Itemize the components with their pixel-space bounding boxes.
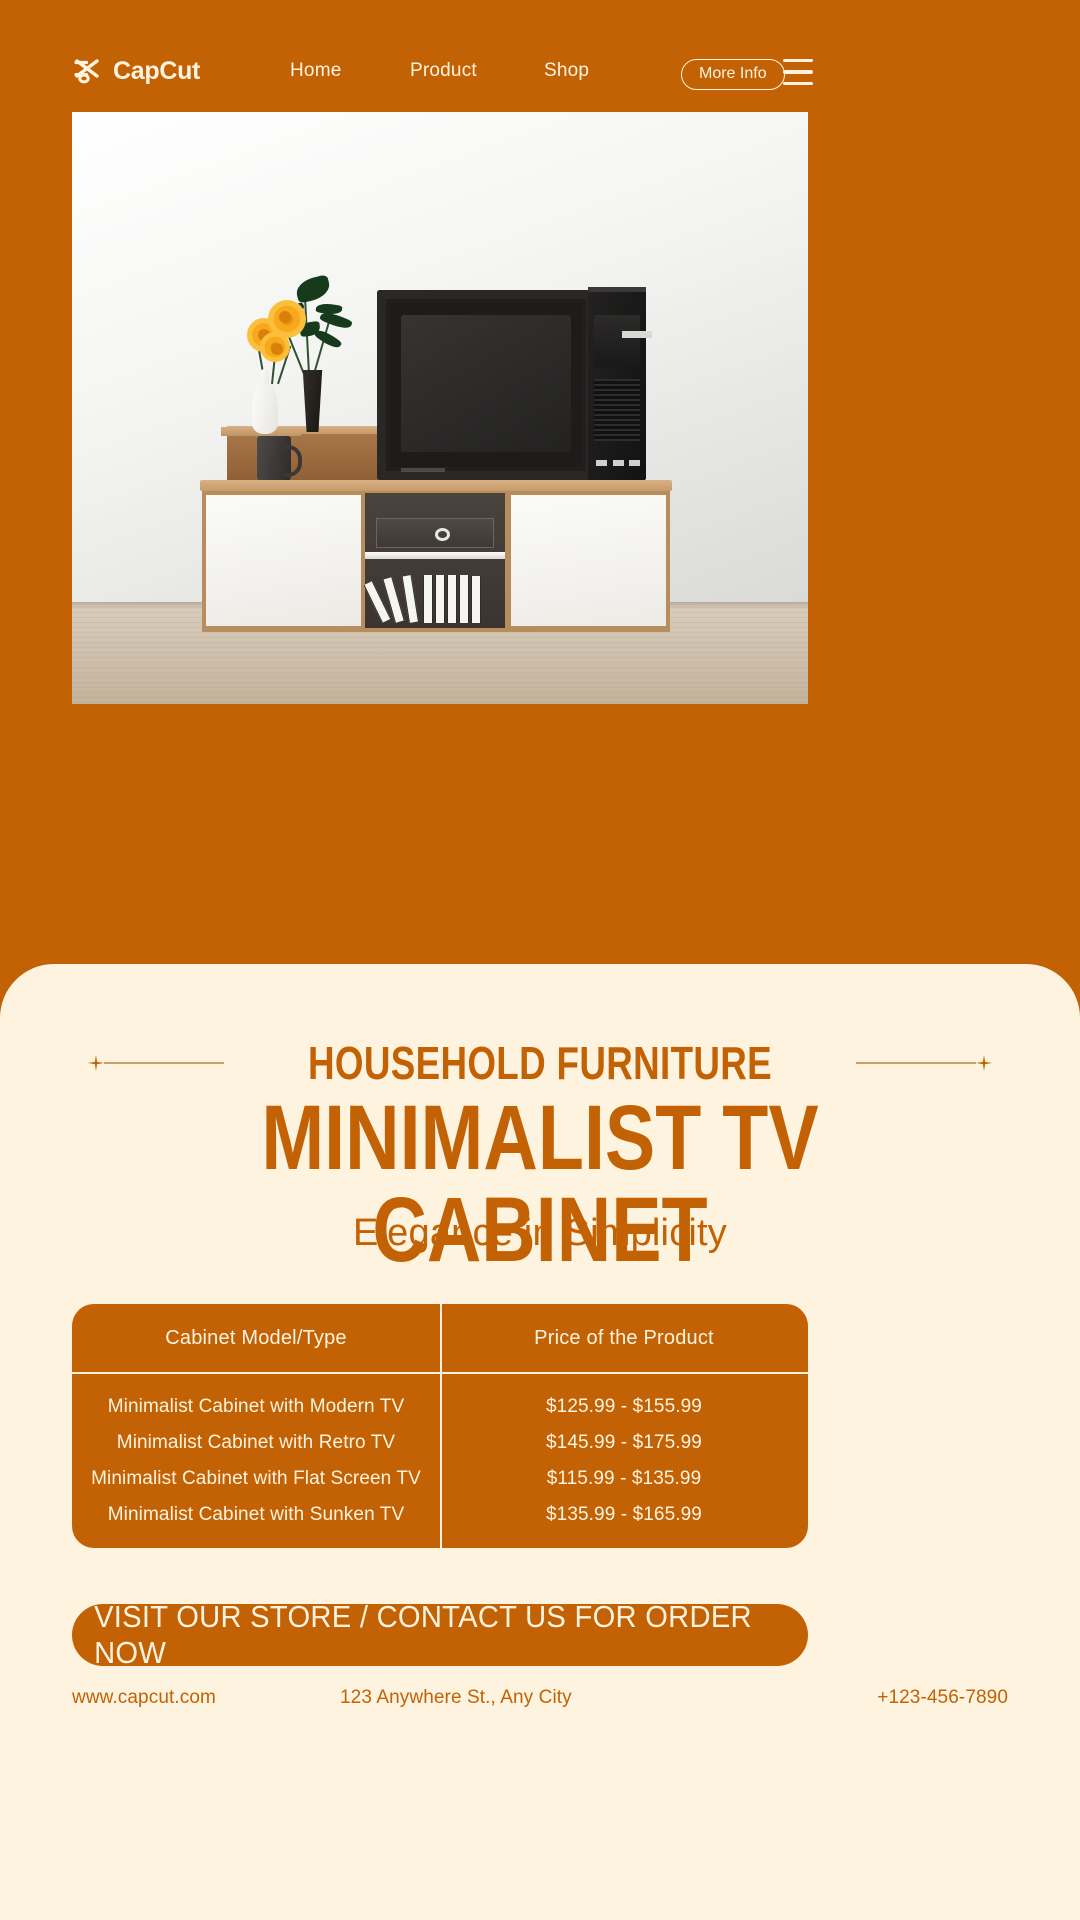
hero-scene — [72, 112, 808, 704]
retro-television — [377, 290, 595, 480]
brand-logo-text: CapCut — [113, 59, 200, 84]
table-row: $115.99 - $135.99 — [440, 1461, 808, 1497]
tv-cabinet — [200, 480, 672, 632]
table-column-prices: $125.99 - $155.99 $145.99 - $175.99 $115… — [440, 1374, 808, 1548]
book-row — [378, 563, 498, 623]
four-point-star-icon — [88, 1055, 104, 1071]
table-row: $145.99 - $175.99 — [440, 1425, 808, 1461]
four-point-star-icon — [976, 1055, 992, 1071]
eyebrow-rule-right — [856, 1062, 976, 1064]
table-row: Minimalist Cabinet with Flat Screen TV — [72, 1461, 440, 1497]
top-navigation-bar: CapCut Home Product Shop More Info — [0, 0, 1080, 116]
cta-button[interactable]: VISIT OUR STORE / CONTACT US FOR ORDER N… — [72, 1604, 808, 1666]
table-row: $125.99 - $155.99 — [440, 1389, 808, 1425]
brand-logo[interactable]: CapCut — [72, 56, 200, 86]
more-info-button[interactable]: More Info — [681, 59, 785, 90]
price-table-body: Minimalist Cabinet with Modern TV Minima… — [72, 1374, 808, 1548]
poster-page: CapCut Home Product Shop More Info — [0, 0, 1080, 1920]
device-dial-icon — [435, 528, 450, 541]
tv-screen — [401, 315, 571, 452]
cabinet-top-surface — [200, 480, 672, 491]
footer-address: 123 Anywhere St., Any City — [340, 1687, 572, 1709]
cta-button-label: VISIT OUR STORE / CONTACT US FOR ORDER N… — [94, 1599, 786, 1671]
eyebrow-row: HOUSEHOLD FURNITURE — [0, 1035, 1080, 1091]
speaker-tower — [588, 287, 646, 480]
table-header-price: Price of the Product — [440, 1304, 808, 1372]
nav-link-home[interactable]: Home — [290, 60, 341, 82]
hero-product-image — [72, 112, 808, 704]
nav-link-shop[interactable]: Shop — [544, 60, 589, 82]
footer-phone[interactable]: +123-456-7890 — [877, 1687, 1008, 1709]
eyebrow-rule-left — [104, 1062, 224, 1064]
white-vase — [252, 382, 278, 434]
tv-brand-mark — [401, 468, 445, 472]
table-header-model: Cabinet Model/Type — [72, 1304, 440, 1372]
cabinet-door-right — [511, 495, 666, 626]
table-column-models: Minimalist Cabinet with Modern TV Minima… — [72, 1374, 440, 1548]
nav-link-product[interactable]: Product — [410, 60, 477, 82]
price-table: Cabinet Model/Type Price of the Product … — [72, 1304, 808, 1548]
content-panel: HOUSEHOLD FURNITURE MINIMALIST TV CABINE… — [0, 964, 1080, 1920]
table-row: Minimalist Cabinet with Sunken TV — [72, 1497, 440, 1533]
footer: www.capcut.com 123 Anywhere St., Any Cit… — [72, 1687, 1008, 1721]
media-device — [376, 518, 494, 548]
hamburger-menu-icon[interactable] — [783, 59, 813, 85]
table-row: Minimalist Cabinet with Retro TV — [72, 1425, 440, 1461]
table-row: Minimalist Cabinet with Modern TV — [72, 1389, 440, 1425]
black-mug — [257, 436, 291, 482]
footer-website[interactable]: www.capcut.com — [72, 1687, 216, 1709]
cabinet-door-left — [206, 495, 361, 626]
eyebrow-text: HOUSEHOLD FURNITURE — [308, 1036, 772, 1090]
page-subtitle: Elegance in Simplicity — [0, 1212, 1080, 1255]
cabinet-shelf-divider — [365, 552, 505, 559]
capcut-hourglass-icon — [72, 56, 102, 86]
table-row: $135.99 - $165.99 — [440, 1497, 808, 1533]
